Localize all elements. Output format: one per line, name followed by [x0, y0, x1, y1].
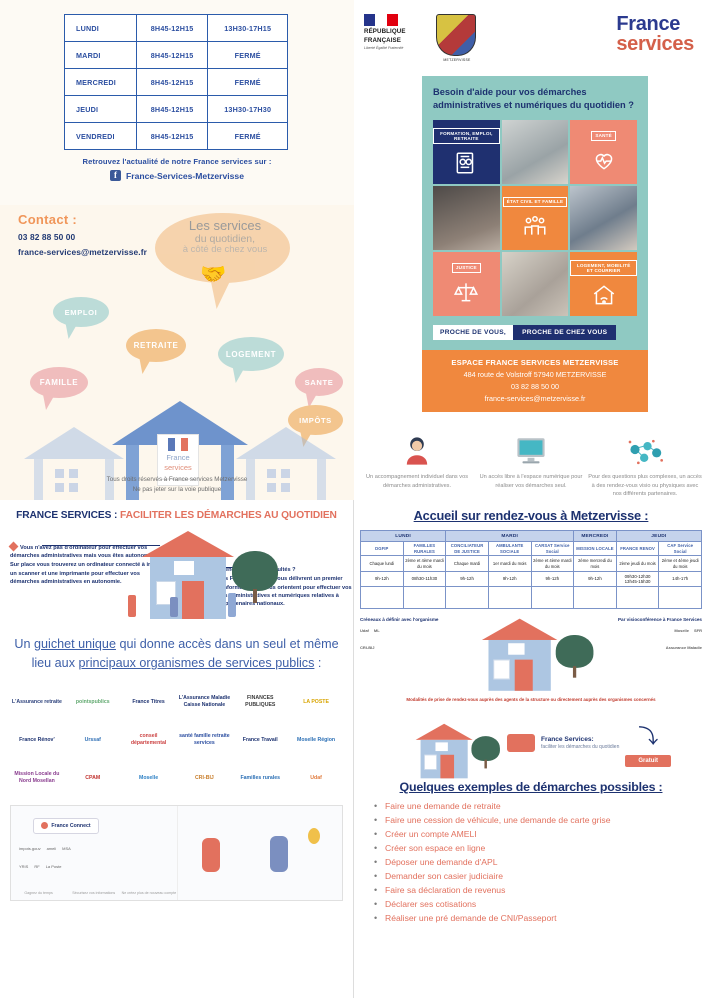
republique-francaise-logo: RÉPUBLIQUE FRANÇAISE Liberté Égalité Fra… — [364, 14, 422, 51]
partner-logo: santé famille retraite services — [177, 723, 231, 757]
example-item: Réaliser une pré demande de CNI/Passepor… — [374, 911, 702, 925]
no-litter-line: Ne pas jeter sur la voie publique — [0, 485, 354, 494]
fs-graphic-text: France Services: faciliter les démarches… — [541, 736, 619, 750]
hours-morning: 8H45-12H15 — [136, 15, 208, 42]
modalites-note: Modalités de prise de rendez-vous auprès… — [360, 697, 702, 702]
bottom-half: FRANCE SERVICES : FACILITER LES DÉMARCHE… — [0, 500, 708, 998]
hours-afternoon: 13H30-17H15 — [208, 15, 288, 42]
partner-logo: CPAM — [66, 761, 120, 795]
fc-logo-ameli: ameli — [47, 846, 57, 851]
tile-état-civil-et-famille: ÉTAT CIVIL ET FAMILLE — [502, 186, 569, 250]
opening-hours-row: LUNDI8H45-12H1513H30-17H15 — [65, 15, 288, 42]
rdv-logo-cell — [574, 587, 617, 609]
moselle-logo: Moselle — [674, 628, 689, 633]
hours-afternoon: FERMÉ — [208, 123, 288, 150]
partner-logo: France Titres — [122, 685, 176, 719]
france-services-logo: France services — [616, 14, 708, 55]
franceconnect-illustration: France Connect impots.gouv ameli MSA YRI… — [10, 805, 343, 901]
rdv-org-cell: CAF Service Social — [659, 542, 702, 556]
example-item: Faire une demande de retraite — [374, 799, 702, 813]
rdv-logo-cell — [616, 587, 659, 609]
rdv-freq-cell: 2ème mercredi du mois — [574, 556, 617, 572]
bubble-line-3: à côté de chez vous — [160, 245, 290, 256]
rdv-logo-cell — [403, 587, 446, 609]
fc-logo-impots: impots.gouv — [19, 846, 41, 851]
feature-item: Pour des questions plus complexes, un ac… — [588, 426, 702, 499]
example-item: Créer un compte AMELI — [374, 827, 702, 841]
tile-label: JUSTICE — [452, 263, 481, 274]
rdv-hours-cell: 14h-17h — [659, 572, 702, 587]
fc-caption: Sécurisez vos informations — [66, 891, 121, 896]
tricolore-icon — [364, 14, 398, 26]
rdv-day-header: JEUDI — [616, 531, 701, 542]
fs-graphic-line2: faciliter les démarches du quotidien — [541, 744, 619, 750]
metzervisse-coat-of-arms: METZERVISSE — [436, 14, 478, 64]
franceconnect-label: France Connect — [51, 823, 90, 829]
facebook-row[interactable]: f France-Services-Metzervisse — [0, 170, 354, 181]
rdv-org-cell: FRANCE RENOV — [616, 542, 659, 556]
tile-photo — [433, 186, 500, 250]
rdv-freq-cell: 2ème jeudi du mois — [616, 556, 659, 572]
fc-logo-laposte: La Poste — [46, 864, 62, 869]
rdv-hours-cell: 09h30-12h30 13h45-15h30 — [616, 572, 659, 587]
rdv-day-header: MARDI — [446, 531, 574, 542]
family-icon — [522, 213, 548, 239]
promo-question: Besoin d'aide pour vos démarches adminis… — [433, 86, 637, 111]
features-row: Un accompagnement individuel dans vos dé… — [354, 426, 708, 499]
rdv-hours-cell: 9h-12h — [531, 572, 574, 587]
fc-right-half — [177, 806, 343, 900]
bubble-logement: LOGEMENT — [218, 337, 284, 371]
rf-line1: RÉPUBLIQUE — [364, 28, 422, 35]
address-box: ESPACE FRANCE SERVICES METZERVISSE 484 r… — [422, 350, 648, 412]
sante-famille-logo: SFR — [694, 628, 702, 633]
creneaux-label: Créneaux à définir avec l'organisme — [360, 617, 469, 622]
person-phone-icon — [270, 836, 288, 872]
guichet-unique-text: Un guichet unique qui donne accès dans u… — [6, 635, 347, 673]
rf-motto: Liberté Égalité Fraternité — [364, 46, 422, 51]
rdv-org-cell: CARSAT Service Social — [531, 542, 574, 556]
assurance-maladie-logo: Assurance Maladie — [666, 645, 702, 650]
rdv-day-header: MERCREDI — [574, 531, 617, 542]
bubble-line-1: Les services — [160, 219, 290, 234]
proche-part-a: PROCHE DE VOUS, — [433, 325, 513, 340]
cri-bij-logo: CRI-BIJ — [360, 645, 374, 650]
house-illustration — [136, 529, 246, 625]
bl-heading-a: FRANCE SERVICES : — [16, 510, 120, 521]
bl-illustration: Vous n'avez pas d'ordinateur pour effect… — [6, 527, 347, 627]
document-icon — [453, 150, 479, 176]
panel-bottom-right: Accueil sur rendez-vous à Metzervisse : … — [354, 500, 708, 998]
address-street: 484 route de Volstroff 57940 METZERVISSE — [428, 370, 642, 379]
home-wifi-icon — [591, 282, 617, 308]
fc-partner-logos: impots.gouv ameli MSA — [19, 846, 71, 851]
bus-icon — [507, 734, 535, 752]
rdv-org-cell: AMBULANTE SOCIALE — [488, 542, 531, 556]
rdv-heading: Accueil sur rendez-vous à Metzervisse : — [360, 508, 702, 523]
address-email[interactable]: france-services@metzervisse.fr — [428, 394, 642, 403]
opening-hours-row: MARDI8H45-12H15FERMÉ — [65, 42, 288, 69]
hours-morning: 8H45-12H15 — [136, 96, 208, 123]
rdv-logo-cell — [659, 587, 702, 609]
fc-captions: Gagnez du tempsSécurisez vos information… — [11, 891, 177, 896]
rdv-freq-cell: Chaque mardi — [446, 556, 489, 572]
partner-logo: Familles rurales — [233, 761, 287, 795]
fc-partner-logos-2: YRIS RF La Poste — [19, 864, 61, 869]
shield-icon — [436, 14, 476, 56]
hours-day: MARDI — [65, 42, 137, 69]
example-item: Faire sa déclaration de revenus — [374, 883, 702, 897]
address-phone[interactable]: 03 82 88 50 00 — [428, 382, 642, 391]
person-icon — [228, 593, 236, 617]
rdv-logo-cell — [446, 587, 489, 609]
fc-caption: Gagnez du temps — [11, 891, 66, 896]
tile-formation: FORMATION, EMPLOI, RETRAITE — [433, 120, 500, 184]
example-item: Créer son espace en ligne — [374, 841, 702, 855]
tree-icon — [556, 635, 594, 678]
bubble-sante: SANTE — [295, 368, 343, 396]
tile-label: SANTÉ — [591, 131, 616, 142]
rdv-freq-cell: 2ème et 4ème mardi du mois — [403, 556, 446, 572]
heartbeat-icon — [591, 147, 617, 173]
fc-logo-yris: YRIS — [19, 864, 28, 869]
creneaux-right: Par visioconférence à France Services Mo… — [593, 617, 702, 695]
partner-logo: L'Assurance Maladie Caisse Nationale — [177, 685, 231, 719]
tile-santé: SANTÉ — [570, 120, 637, 184]
rdv-org-cell: DGFIP — [361, 542, 404, 556]
teal-promo-box: Besoin d'aide pour vos démarches adminis… — [422, 76, 648, 350]
tile-justice: JUSTICE — [433, 252, 500, 316]
fc-logo-msa: MSA — [62, 846, 71, 851]
tile-logement: LOGEMENT, MOBILITÉ ET COURRIER — [570, 252, 637, 316]
proche-part-b: PROCHE DE CHEZ VOUS — [513, 325, 616, 340]
hours-afternoon: FERMÉ — [208, 42, 288, 69]
contact-title: Contact : — [18, 212, 147, 227]
creneaux-row: Créneaux à définir avec l'organisme Udaf… — [360, 617, 702, 695]
partner-logo: conseil départemental — [122, 723, 176, 757]
fc-logo-rf: RF — [34, 864, 39, 869]
opening-hours-row: MERCREDI8H45-12H15FERMÉ — [65, 69, 288, 96]
hours-morning: 8H45-12H15 — [136, 42, 208, 69]
partner-logo: Urssaf — [66, 723, 120, 757]
network-icon — [588, 426, 702, 468]
hours-morning: 8H45-12H15 — [136, 123, 208, 150]
address-name: ESPACE FRANCE SERVICES METZERVISSE — [428, 358, 642, 367]
hours-afternoon: 13H30-17H30 — [208, 96, 288, 123]
partner-logo: LA POSTE — [289, 685, 343, 719]
example-item: Déposer une demande d'APL — [374, 855, 702, 869]
tree-icon — [232, 551, 278, 603]
hours-morning: 8H45-12H15 — [136, 69, 208, 96]
person-icon — [360, 426, 474, 468]
partner-logo-grid: L'Assurance retraitepointspublicsFrance … — [6, 685, 347, 795]
fs-graphic-line1: France Services: — [541, 736, 619, 743]
hours-day: VENDREDI — [65, 123, 137, 150]
rdv-logo-cell — [488, 587, 531, 609]
opening-hours-section: LUNDI8H45-12H1513H30-17H15MARDI8H45-12H1… — [0, 0, 354, 150]
category-tile-grid: FORMATION, EMPLOI, RETRAITESANTÉÉTAT CIV… — [433, 120, 637, 316]
rdv-day-header: LUNDI — [361, 531, 446, 542]
tile-photo — [502, 120, 569, 184]
creneaux-center-illustration — [469, 617, 592, 695]
tile-label: ÉTAT CIVIL ET FAMILLE — [503, 197, 568, 208]
partner-logo: pointspublics — [66, 685, 120, 719]
feature-item: Un accompagnement individuel dans vos dé… — [360, 426, 474, 499]
fc-left-half: France Connect impots.gouv ameli MSA YRI… — [11, 806, 177, 900]
top-half: LUNDI8H45-12H1513H30-17H15MARDI8H45-12H1… — [0, 0, 708, 500]
tree-icon — [471, 736, 500, 768]
rdv-hours-cell: 9h-12h — [361, 572, 404, 587]
rdv-freq-cell: 1er mardi du mois — [488, 556, 531, 572]
hours-day: JEUDI — [65, 96, 137, 123]
facebook-icon[interactable]: f — [110, 170, 121, 181]
fs-graphic: France Services: faciliter les démarches… — [360, 710, 702, 776]
rdv-org-cell: MISSION LOCALE — [574, 542, 617, 556]
partner-logo: CRI-BIJ — [177, 761, 231, 795]
arrow-gratuit-group: ⤵ Gratuit — [625, 720, 671, 767]
lightbulb-icon — [308, 828, 320, 844]
curved-arrow-icon: ⤵ — [625, 720, 671, 749]
handshake-icon: 🤝 — [200, 263, 226, 287]
rdv-hours-cell: 9h-12h — [488, 572, 531, 587]
tile-label: FORMATION, EMPLOI, RETRAITE — [433, 128, 500, 144]
bubble-famille: FAMILLE — [30, 367, 88, 398]
panel-bottom-left: FRANCE SERVICES : FACILITER LES DÉMARCHE… — [0, 500, 354, 998]
institutional-logos: RÉPUBLIQUE FRANÇAISE Liberté Égalité Fra… — [354, 0, 708, 64]
rdv-org-cell: FAMILLES RURALES — [403, 542, 446, 556]
partner-logo: L'Assurance retraite — [10, 685, 64, 719]
main-bubble-text: Les services du quotidien, à côté de che… — [160, 219, 290, 256]
rights-line: Tous droits réservés à France services M… — [0, 475, 354, 484]
rdv-logo-cell — [361, 587, 404, 609]
franceconnect-icon — [41, 822, 48, 829]
opening-hours-row: JEUDI8H45-12H1513H30-17H30 — [65, 96, 288, 123]
panel-top-right: RÉPUBLIQUE FRANÇAISE Liberté Égalité Fra… — [354, 0, 708, 500]
examples-list: Faire une demande de retraiteFaire une c… — [360, 799, 702, 925]
hours-afternoon: FERMÉ — [208, 69, 288, 96]
rdv-logo-cell — [531, 587, 574, 609]
rf-line2: FRANÇAISE — [364, 37, 422, 44]
example-item: Déclarer ses cotisations — [374, 897, 702, 911]
rdv-freq-cell: Chaque lundi — [361, 556, 404, 572]
hours-day: MERCREDI — [65, 69, 137, 96]
feature-text: Un accompagnement individuel dans vos dé… — [360, 473, 474, 490]
udaf-logo: Udaf — [360, 628, 369, 633]
creneaux-logos: Udaf ML — [360, 628, 469, 633]
diamond-icon — [9, 542, 19, 552]
bl-heading-b: FACILITER LES DÉMARCHES AU QUOTIDIEN — [120, 510, 337, 521]
partner-logo: France Rénov' — [10, 723, 64, 757]
example-item: Faire une cession de véhicule, une deman… — [374, 813, 702, 827]
fc-caption: Ne créez plus de nouveau compte — [121, 891, 176, 896]
visio-label: Par visioconférence à France Services — [593, 617, 702, 622]
tile-label: LOGEMENT, MOBILITÉ ET COURRIER — [570, 260, 637, 276]
person-icon — [170, 597, 178, 617]
person-icon — [128, 595, 136, 617]
french-flag-icon — [168, 438, 188, 451]
visio-logos: Moselle SFR — [593, 628, 702, 633]
contact-phone[interactable]: 03 82 88 50 00 — [18, 232, 147, 242]
franceconnect-badge: France Connect — [33, 818, 99, 834]
partner-logo: Moselle Région — [289, 723, 343, 757]
social-intro: Retrouvez l'actualité de notre France se… — [0, 157, 354, 166]
top-left-footer: Tous droits réservés à France services M… — [0, 475, 354, 494]
proche-banner: PROCHE DE VOUS, PROCHE DE CHEZ VOUS — [433, 325, 637, 340]
bl-heading: FRANCE SERVICES : FACILITER LES DÉMARCHE… — [6, 510, 347, 521]
rdv-hours-cell: 9h-12h — [574, 572, 617, 587]
partner-logo: Udaf — [289, 761, 343, 795]
tile-photo — [502, 252, 569, 316]
person-reading-icon — [202, 838, 220, 872]
card-france: France — [166, 453, 189, 462]
mission-logo: ML — [374, 628, 380, 633]
panel-top-left: LUNDI8H45-12H1513H30-17H15MARDI8H45-12H1… — [0, 0, 354, 500]
rdv-freq-cell: 2ème et 4ème mardi du mois — [531, 556, 574, 572]
opening-hours-table: LUNDI8H45-12H1513H30-17H15MARDI8H45-12H1… — [64, 14, 288, 150]
rdv-freq-cell: 2ème et 4ème jeudi du mois — [659, 556, 702, 572]
bubble-retraite: RETRAITE — [126, 329, 186, 362]
feature-text: Pour des questions plus complexes, un ac… — [588, 473, 702, 499]
examples-heading: Quelques exemples de démarches possibles… — [360, 780, 702, 794]
opening-hours-row: VENDREDI8H45-12H15FERMÉ — [65, 123, 288, 150]
partner-logo: France Travail — [233, 723, 287, 757]
rdv-table: LUNDIMARDIMERCREDIJEUDI DGFIPFAMILLES RU… — [360, 530, 702, 609]
feature-item: Un accès libre à l'espace numérique pour… — [474, 426, 588, 499]
visio-logos-2: Assurance Maladie — [593, 645, 702, 650]
brand-france: France — [616, 14, 694, 34]
rdv-hours-cell: 08h30-11h30 — [403, 572, 446, 587]
facebook-page-name[interactable]: France-Services-Metzervisse — [126, 171, 244, 181]
creneaux-left: Créneaux à définir avec l'organisme Udaf… — [360, 617, 469, 695]
scales-icon — [453, 279, 479, 305]
feature-text: Un accès libre à l'espace numérique pour… — [474, 473, 588, 490]
hours-day: LUNDI — [65, 15, 137, 42]
gratuit-badge: Gratuit — [625, 755, 671, 767]
example-item: Demander son casier judiciaire — [374, 869, 702, 883]
tile-photo — [570, 186, 637, 250]
creneaux-logos-2: CRI-BIJ — [360, 645, 469, 650]
partner-logo: FINANCES PUBLIQUES — [233, 685, 287, 719]
contact-email[interactable]: france-services@metzervisse.fr — [18, 247, 147, 257]
partner-logo: Mission Locale du Nord Mosellan — [10, 761, 64, 795]
rdv-org-cell: CONCILIATEUR DE JUSTICE — [446, 542, 489, 556]
brand-services: services — [616, 34, 694, 55]
bubble-emploi: EMPLOI — [53, 297, 109, 327]
flyer-page: LUNDI8H45-12H1513H30-17H15MARDI8H45-12H1… — [0, 0, 708, 1000]
monitor-icon — [474, 426, 588, 468]
contact-block: Contact : 03 82 88 50 00 france-services… — [18, 212, 147, 257]
card-services: services — [164, 463, 192, 472]
rdv-hours-cell: 9h-12h — [446, 572, 489, 587]
partner-logo: Moselle — [122, 761, 176, 795]
blason-label: METZERVISSE — [436, 58, 478, 62]
